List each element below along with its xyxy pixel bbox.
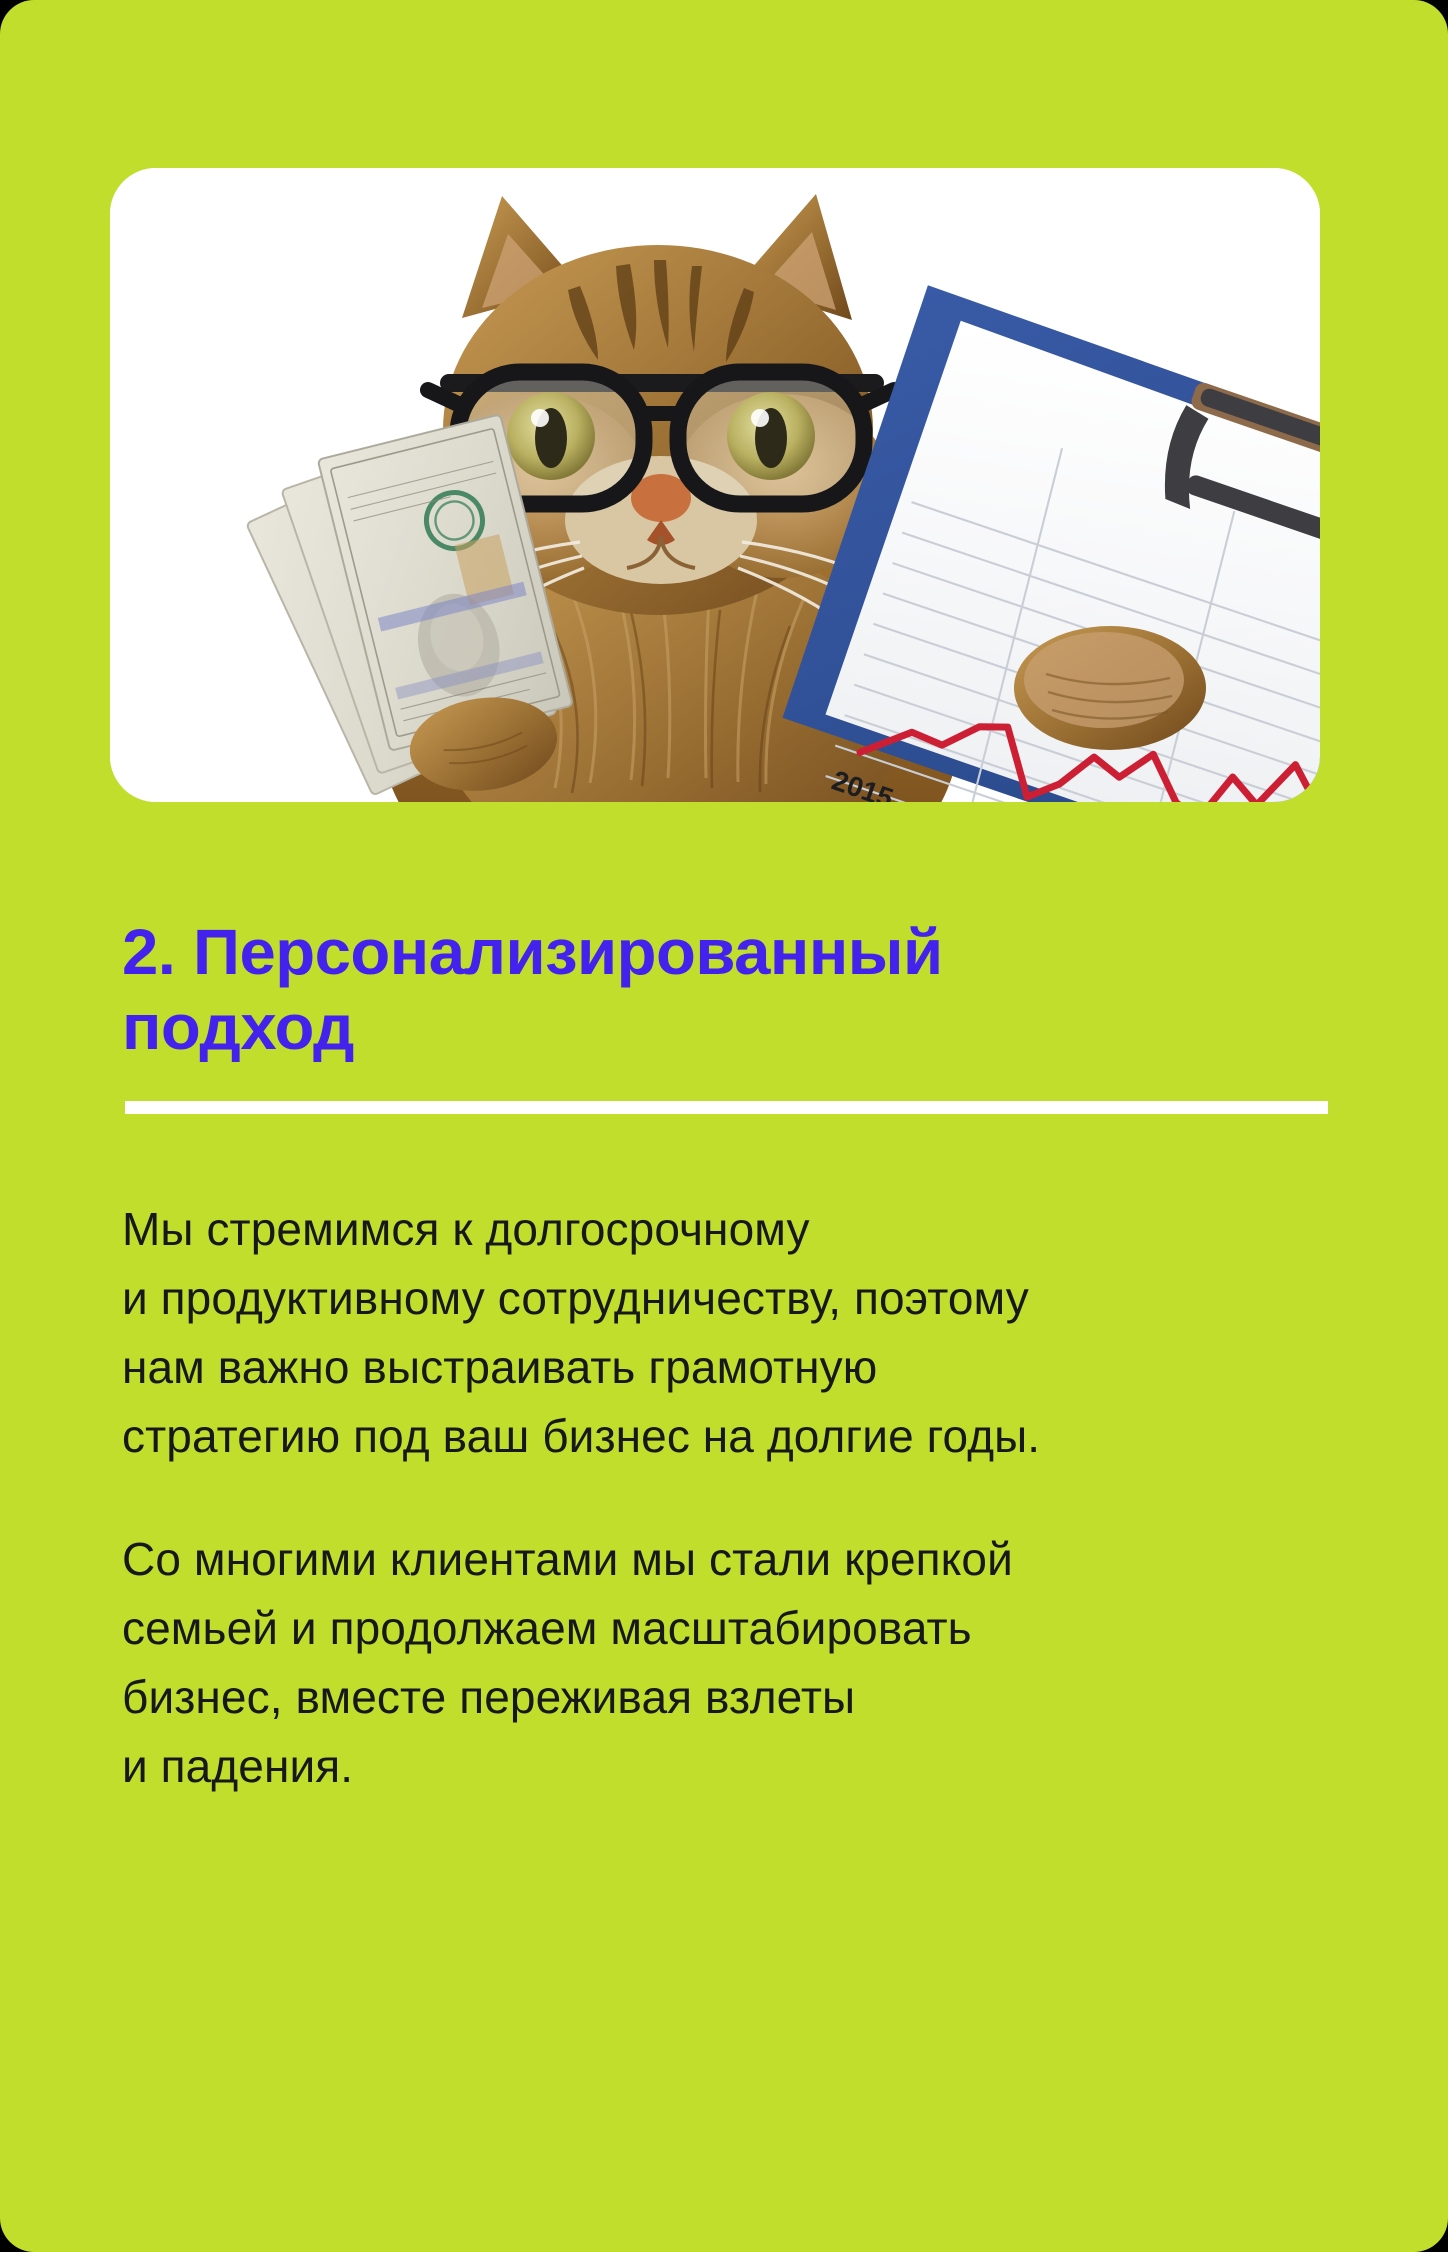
cat-with-money-and-clipboard-image: 2015 2016 xyxy=(110,168,1320,802)
body-copy: Мы стремимся к долгосрочному и продуктив… xyxy=(122,1195,1362,1801)
paragraph-2: Со многими клиентами мы стали крепкой се… xyxy=(122,1525,1362,1801)
page-title: 2. Персонализированный подход xyxy=(122,915,1377,1066)
slide-card: 2015 2016 2. Перс xyxy=(0,0,1448,2252)
photo-card: 2015 2016 xyxy=(110,168,1320,802)
photo-stage: 2015 2016 xyxy=(110,168,1320,802)
divider xyxy=(125,1101,1328,1114)
paragraph-1: Мы стремимся к долгосрочному и продуктив… xyxy=(122,1195,1362,1471)
